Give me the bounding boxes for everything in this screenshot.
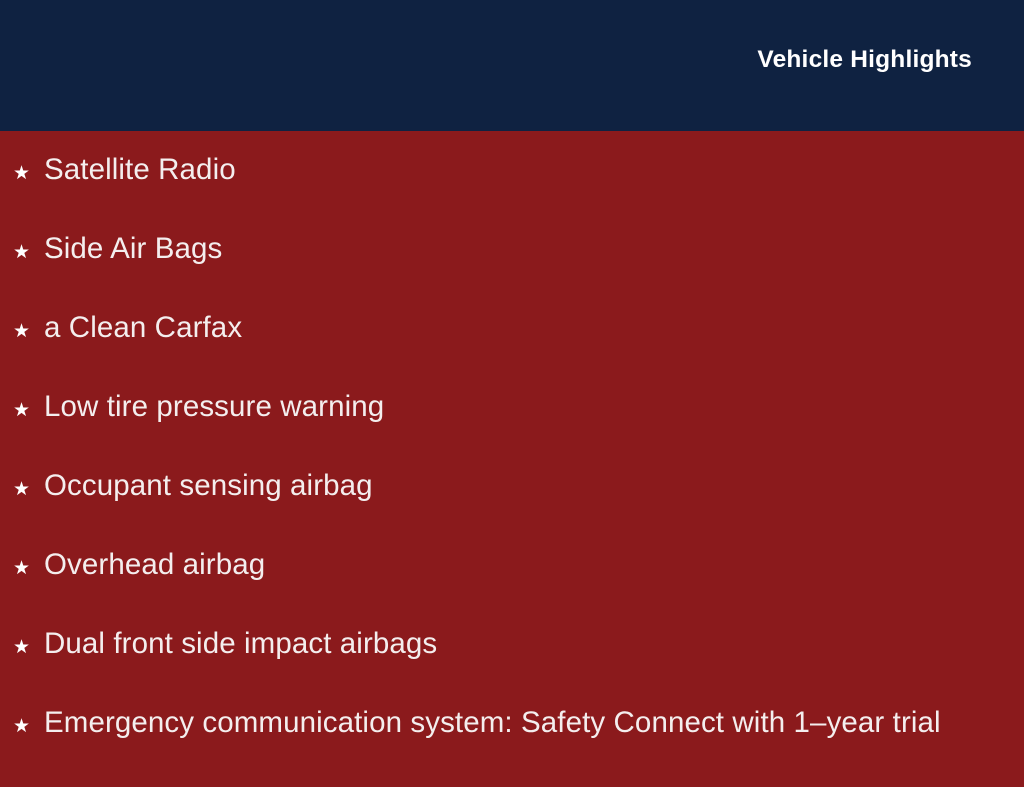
star-icon: ★ <box>13 717 44 736</box>
list-item: ★ a Clean Carfax <box>0 313 1024 392</box>
list-item: ★ Emergency communication system: Safety… <box>0 708 1024 787</box>
list-item: ★ Satellite Radio <box>0 155 1024 234</box>
star-icon: ★ <box>13 559 44 578</box>
list-item: ★ Dual front side impact airbags <box>0 629 1024 708</box>
list-item: ★ Low tire pressure warning <box>0 392 1024 471</box>
star-icon: ★ <box>13 322 44 341</box>
list-item-label: Dual front side impact airbags <box>44 629 437 659</box>
star-icon: ★ <box>13 401 44 420</box>
list-item-label: Overhead airbag <box>44 550 265 580</box>
list-item: ★ Side Air Bags <box>0 234 1024 313</box>
list-item: ★ Occupant sensing airbag <box>0 471 1024 550</box>
list-item-label: Emergency communication system: Safety C… <box>44 708 941 738</box>
page-title: Vehicle Highlights <box>757 47 972 74</box>
star-icon: ★ <box>13 480 44 499</box>
list-item-label: Low tire pressure warning <box>44 392 384 422</box>
list-item-label: Occupant sensing airbag <box>44 471 373 501</box>
vehicle-highlights-list: ★ Satellite Radio ★ Side Air Bags ★ a Cl… <box>0 155 1024 787</box>
vehicle-highlights-slide: Vehicle Highlights ★ Satellite Radio ★ S… <box>0 0 1024 768</box>
star-icon: ★ <box>13 243 44 262</box>
star-icon: ★ <box>13 164 44 183</box>
slide-body: ★ Satellite Radio ★ Side Air Bags ★ a Cl… <box>0 131 1024 787</box>
list-item-label: a Clean Carfax <box>44 313 242 343</box>
star-icon: ★ <box>13 638 44 657</box>
list-item-label: Satellite Radio <box>44 155 236 185</box>
list-item: ★ Overhead airbag <box>0 550 1024 629</box>
slide-header: Vehicle Highlights <box>0 0 1024 131</box>
list-item-label: Side Air Bags <box>44 234 222 264</box>
